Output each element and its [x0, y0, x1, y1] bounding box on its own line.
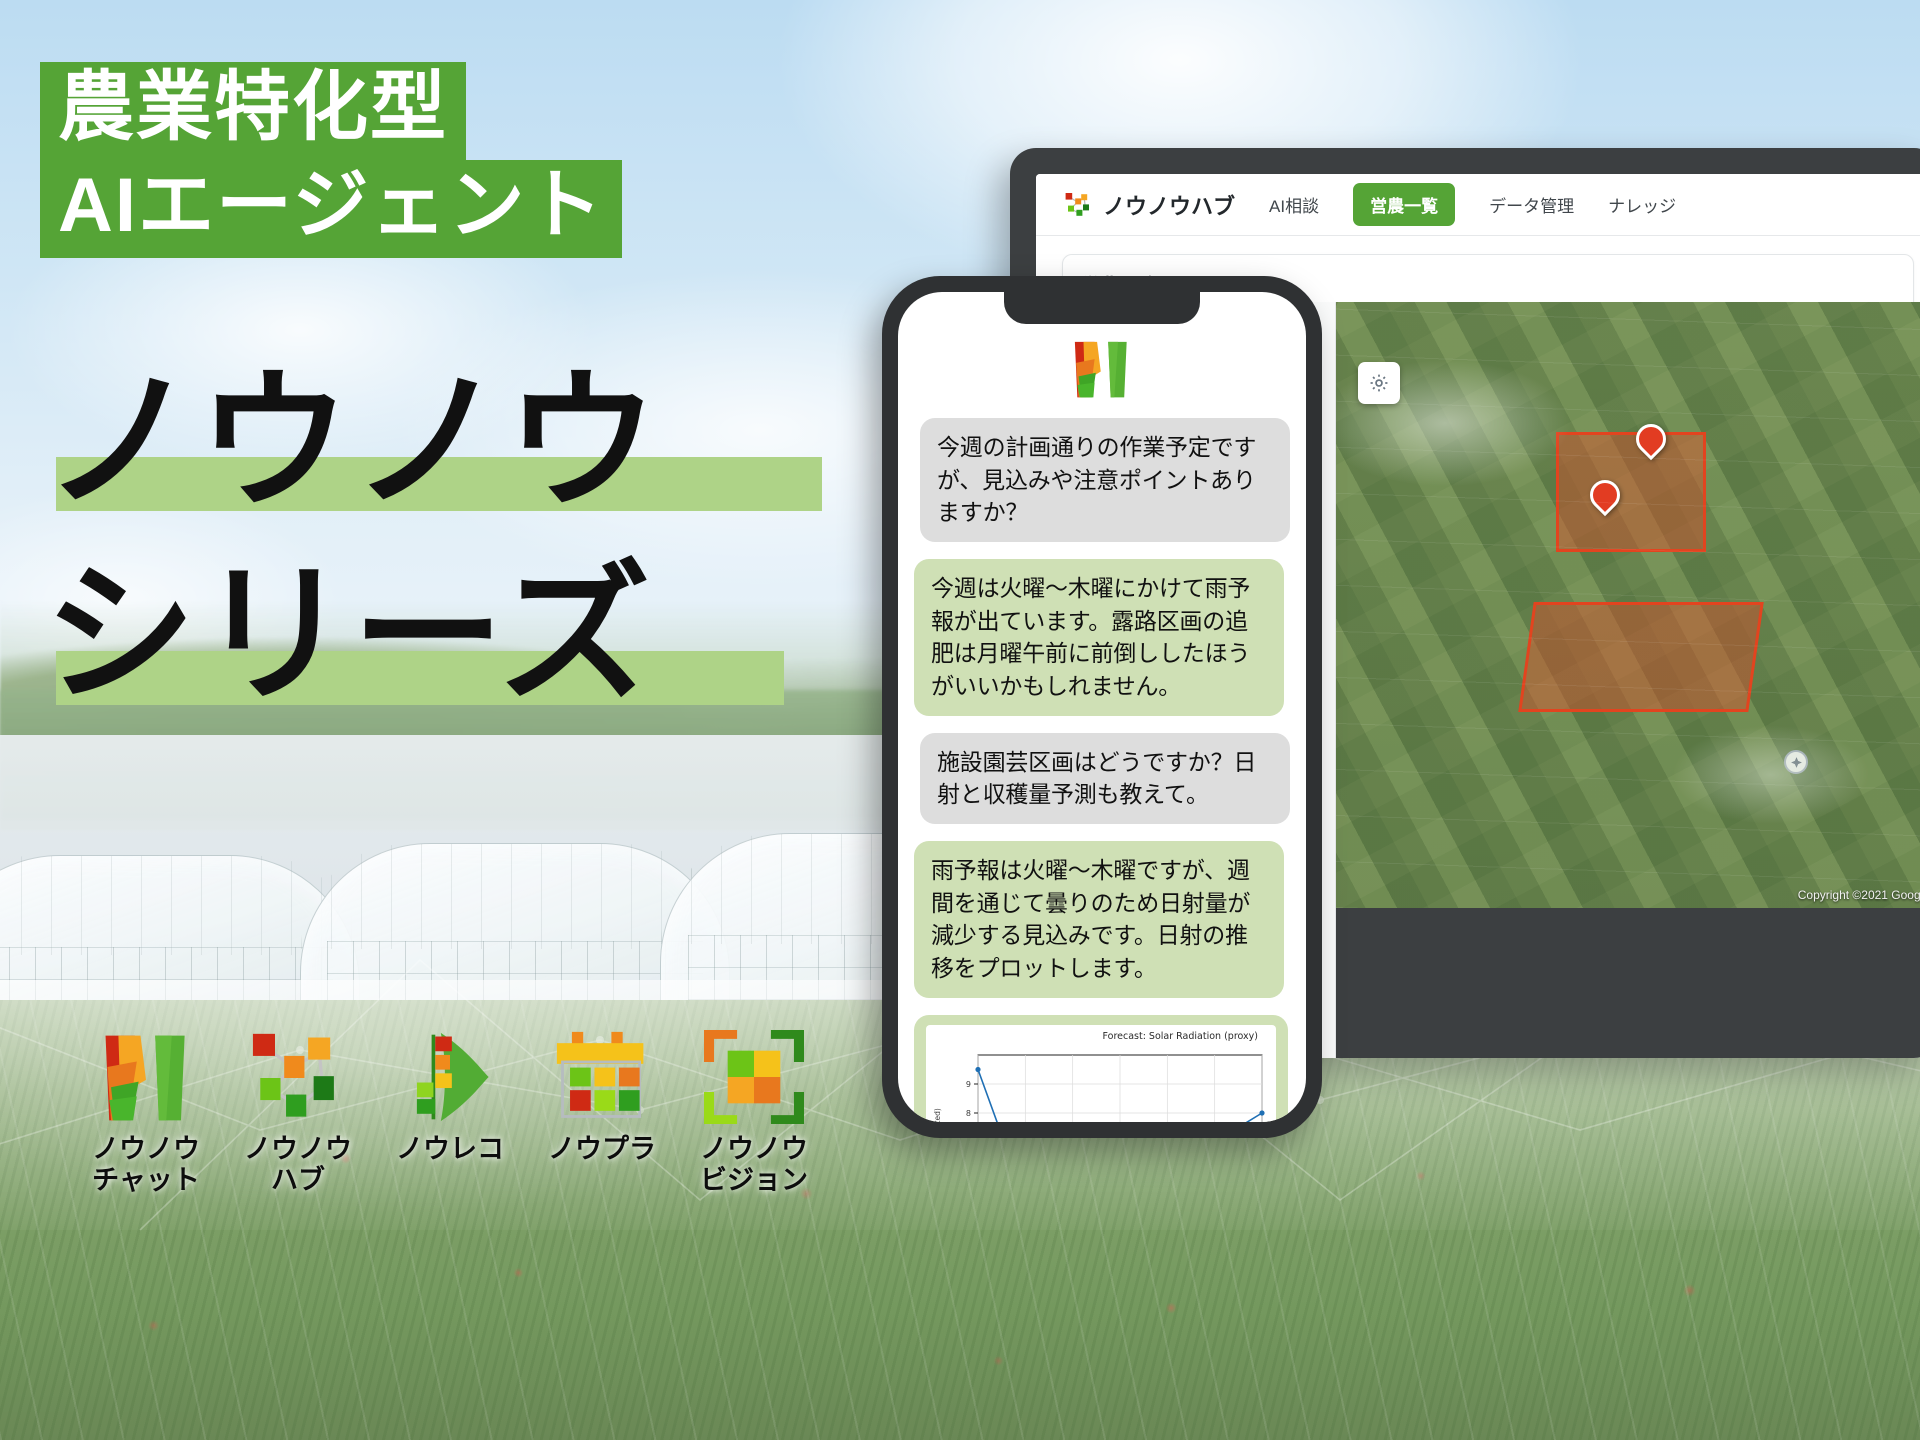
- headline-kicker: 農業特化型 AIエージェント: [40, 62, 622, 258]
- nounou-chat-icon: [1065, 338, 1139, 400]
- solar-radiation-chart: Forecast: Solar Radiation (proxy)56789MJ…: [926, 1025, 1276, 1122]
- product-label: ノウプラ: [548, 1134, 656, 1165]
- svg-text:8: 8: [966, 1109, 971, 1118]
- hero-line-1: ノウノウ: [44, 350, 660, 535]
- nounou-hub-icon: [1062, 190, 1092, 220]
- noupura-icon: [553, 1030, 651, 1124]
- hero-line-2: シリーズ: [44, 543, 652, 728]
- phone-app-logo: [914, 338, 1290, 400]
- phone-notch: [1004, 292, 1200, 324]
- chat-message-list: 今週の計画通りの作業予定ですが、見込みや注意ポイントありますか？ 今週は火曜〜木…: [914, 418, 1290, 1122]
- svg-text:MJ/m² (estimated): MJ/m² (estimated): [933, 1108, 942, 1122]
- phone-screen: 今週の計画通りの作業予定ですが、見込みや注意ポイントありますか？ 今週は火曜〜木…: [898, 292, 1306, 1122]
- kicker-line-1: 農業特化型: [40, 62, 466, 160]
- chat-bubble-user: 施設園芸区画はどうですか？日射と収穫量予測も教えて。: [920, 733, 1290, 824]
- product-label: ノウノウ チャット: [92, 1134, 200, 1197]
- product-icon-wrap: [90, 1028, 202, 1124]
- desktop-nav-item-data-kanri[interactable]: データ管理: [1489, 192, 1574, 217]
- nounou-chat-icon: [90, 1032, 202, 1124]
- hero-line-2-wrap: シリーズ: [44, 543, 652, 728]
- desktop-nav-item-knowledge[interactable]: ナレッジ: [1608, 192, 1676, 217]
- product-item-nounou-chat[interactable]: ノウノウ チャット: [70, 1028, 222, 1197]
- svg-text:9: 9: [966, 1080, 971, 1089]
- product-item-nounou-vision[interactable]: ノウノウ ビジョン: [678, 1028, 830, 1197]
- product-item-noupura[interactable]: ノウプラ: [526, 1028, 678, 1165]
- desktop-nav-item-einou-ichiran[interactable]: 営農一覧: [1353, 183, 1455, 226]
- map-credit-text: Copyright ©2021 Google: [1798, 888, 1920, 902]
- map-plot-polygon[interactable]: [1556, 432, 1706, 552]
- chat-chart-attachment: Forecast: Solar Radiation (proxy)56789MJ…: [914, 1015, 1288, 1122]
- chat-bubble-ai: 雨予報は火曜〜木曜ですが、週間を通じて曇りのため日射量が減少する見込みです。日射…: [914, 841, 1284, 998]
- nounou-vision-icon: [704, 1030, 804, 1124]
- nounou-hub-icon: [246, 1032, 350, 1124]
- product-icon-wrap: [704, 1028, 804, 1124]
- map-pin-marker[interactable]: [1630, 418, 1672, 460]
- product-label: ノウノウ ビジョン: [700, 1134, 808, 1197]
- svg-text:Forecast: Solar Radiation (pro: Forecast: Solar Radiation (proxy): [1103, 1031, 1258, 1042]
- hero-title: ノウノウ シリーズ: [44, 350, 660, 737]
- product-label: ノウノウ ハブ: [244, 1134, 352, 1197]
- product-item-nounou-hub[interactable]: ノウノウ ハブ: [222, 1028, 374, 1197]
- desktop-brand[interactable]: ノウノウハブ: [1062, 189, 1235, 221]
- map-plot-polygon[interactable]: [1518, 602, 1763, 712]
- product-label: ノウレコ: [396, 1134, 504, 1165]
- phone-mockup: 今週の計画通りの作業予定ですが、見込みや注意ポイントありますか？ 今週は火曜〜木…: [882, 276, 1322, 1138]
- desktop-brand-name: ノウノウハブ: [1103, 189, 1235, 221]
- poster-canvas: ノウノウハブ AI相談 営農一覧 データ管理 ナレッジ 営農一覧 区画ごとの作業…: [0, 0, 1920, 1440]
- product-icon-row: ノウノウ チャット: [70, 1028, 830, 1197]
- noureco-icon: [404, 1030, 496, 1124]
- map-settings-button[interactable]: [1358, 362, 1400, 404]
- map-pin-marker[interactable]: [1584, 474, 1626, 516]
- hero-line-1-wrap: ノウノウ: [44, 350, 660, 535]
- gps-icon: [1784, 750, 1808, 774]
- desktop-bezel-bottom: [1336, 908, 1920, 1058]
- chat-bubble-user: 今週の計画通りの作業予定ですが、見込みや注意ポイントありますか？: [920, 418, 1290, 542]
- desktop-nav-item-ai-soudan[interactable]: AI相談: [1269, 192, 1319, 217]
- gear-icon: [1368, 372, 1390, 394]
- chat-bubble-ai: 今週は火曜〜木曜にかけて雨予報が出ています。露路区画の追肥は月曜午前に前倒しした…: [914, 559, 1284, 716]
- kicker-line-2: AIエージェント: [40, 160, 622, 258]
- desktop-satellite-map[interactable]: Copyright ©2021 Google: [1336, 302, 1920, 908]
- chart-svg: Forecast: Solar Radiation (proxy)56789MJ…: [926, 1025, 1276, 1122]
- product-item-noureco[interactable]: ノウレコ: [374, 1028, 526, 1165]
- desktop-navbar: ノウノウハブ AI相談 営農一覧 データ管理 ナレッジ: [1036, 174, 1920, 236]
- product-icon-wrap: [246, 1028, 350, 1124]
- product-icon-wrap: [404, 1028, 496, 1124]
- product-icon-wrap: [553, 1028, 651, 1124]
